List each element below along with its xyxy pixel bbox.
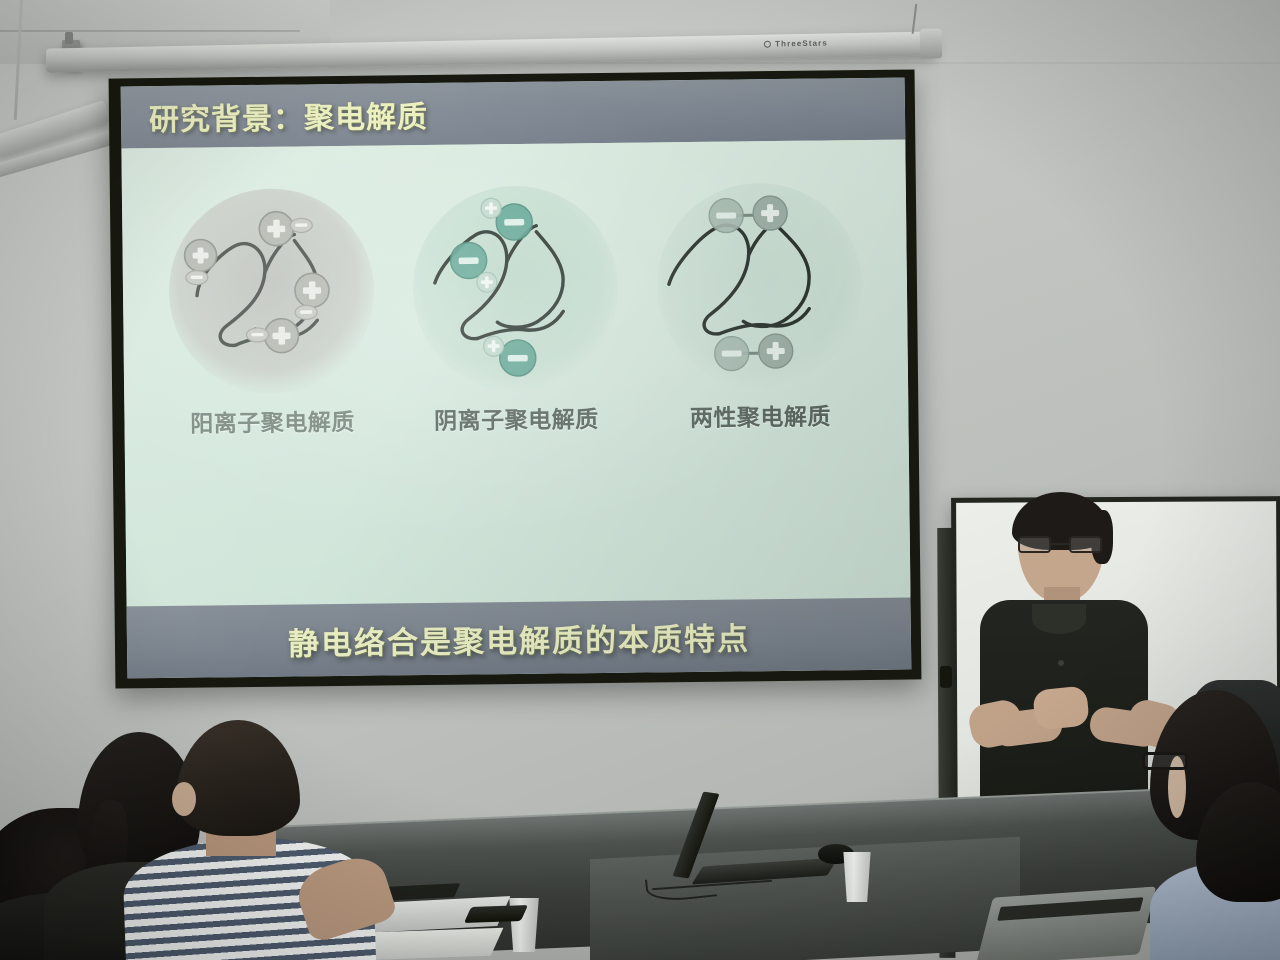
- casing-end-cap: [920, 28, 943, 58]
- slide-footer-text: 静电络合是聚电解质的本质特点: [288, 613, 750, 663]
- slide-header-bar: 研究背景：聚电解质: [121, 78, 906, 149]
- diagram-amphoteric: 两性聚电解质: [645, 182, 873, 434]
- polymer-chain-svg: [411, 185, 618, 392]
- diagram-caption-anionic: 阴离子聚电解质: [434, 400, 599, 436]
- charge-markers: [184, 211, 330, 354]
- polymer-illustration-amphoteric: [655, 182, 862, 389]
- presenter-glasses: [1018, 536, 1102, 553]
- meeting-room-photo: ThreeStars 研究背景：聚电解质: [0, 0, 1280, 960]
- polymer-illustration-cationic: [167, 188, 374, 395]
- charge-pair-markers: [708, 196, 792, 371]
- polymer-chain-svg: [167, 188, 374, 395]
- whiteboard-knob: [940, 666, 952, 688]
- laptop-right-side: [976, 887, 1157, 960]
- audience-member-right-glasses: [1142, 752, 1188, 770]
- projection-surface: 研究背景：聚电解质: [121, 78, 912, 679]
- projection-screen: 研究背景：聚电解质: [109, 69, 922, 688]
- projector-brand-logo: ThreeStars: [764, 39, 828, 49]
- paper-stack-secondary: [359, 928, 504, 960]
- ceiling-seam: [0, 30, 300, 32]
- polyelectrolyte-diagram-row: 阳离子聚电解质: [122, 182, 909, 440]
- conference-table-secondary: [590, 837, 1020, 960]
- phone-on-table: [464, 905, 528, 923]
- slide-title: 研究背景：聚电解质: [149, 92, 428, 139]
- presenter-clasped-hands: [1032, 685, 1090, 730]
- slide-footer-bar: 静电络合是聚电解质的本质特点: [127, 598, 912, 679]
- diagram-caption-cationic: 阳离子聚电解质: [190, 403, 355, 439]
- diagram-anionic: 阴离子聚电解质: [401, 185, 629, 437]
- presenter-collar: [1032, 604, 1086, 634]
- slide-body: 阳离子聚电解质: [121, 140, 910, 607]
- polymer-illustration-anionic: [411, 185, 618, 392]
- audience-member-striped-ear: [172, 782, 196, 816]
- diagram-caption-amphoteric: 两性聚电解质: [690, 397, 831, 433]
- diagram-cationic: 阳离子聚电解质: [157, 187, 385, 439]
- polymer-chain-svg: [655, 182, 862, 389]
- presentation-slide: 研究背景：聚电解质: [121, 78, 912, 679]
- charge-markers: [449, 198, 535, 377]
- shirt-button: [1058, 660, 1064, 666]
